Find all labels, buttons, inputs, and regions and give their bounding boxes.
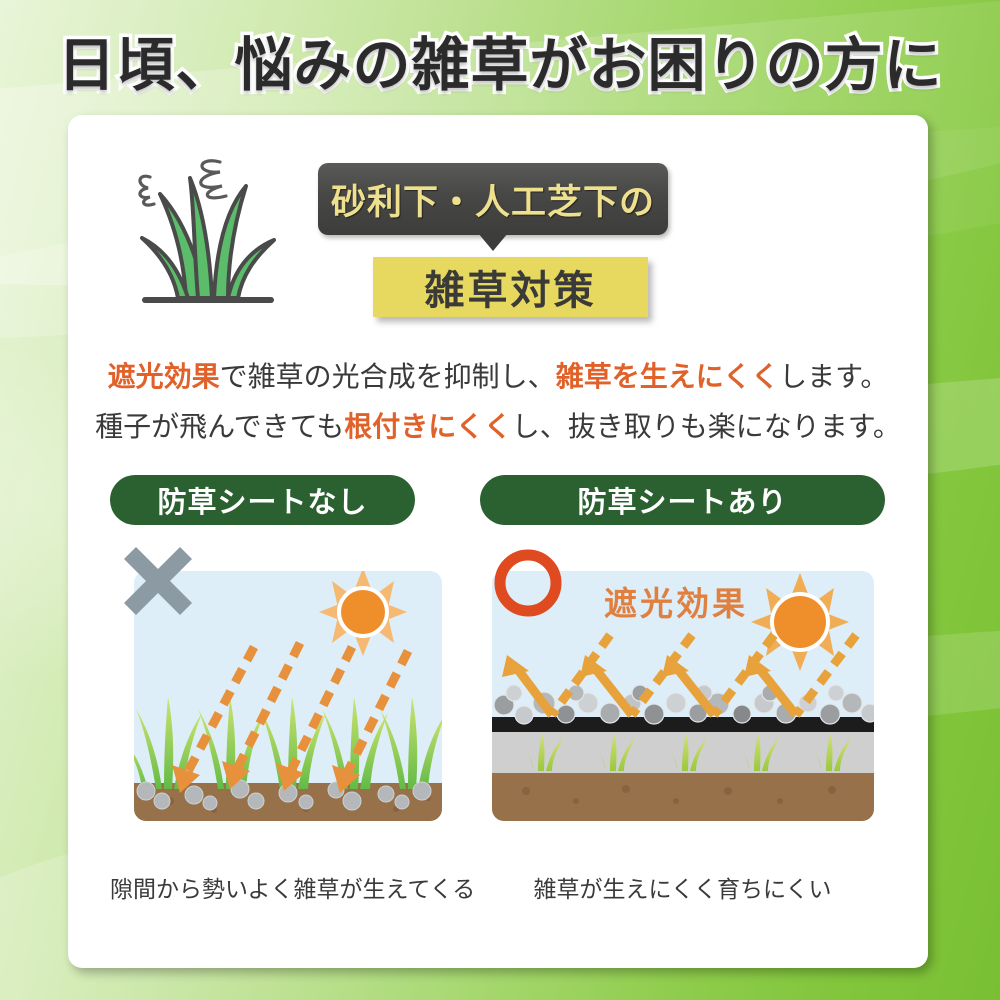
description-segment: 根付きにくく	[344, 411, 511, 442]
description-segment: 種子が飛んできても	[95, 411, 344, 442]
grass-icon	[128, 150, 288, 315]
label-without-sheet-text: 防草シートなし	[157, 479, 367, 521]
callout-bubble-text: 砂利下・人工芝下の	[331, 174, 655, 225]
label-with-sheet: 防草シートあり	[480, 475, 885, 525]
description-segment: 雑草を生えにくく	[556, 361, 779, 392]
poster-canvas: 日頃、悩みの雑草がお困りの方に 砂利下・人工芝下の 雑草対策	[0, 0, 1000, 1000]
caption-with-sheet: 雑草が生えにくく育ちにくい	[480, 870, 885, 904]
label-with-sheet-text: 防草シートあり	[577, 479, 787, 521]
callout-bubble-tail	[478, 233, 508, 251]
caption-without-sheet: 隙間から勢いよく雑草が生えてくる	[110, 870, 462, 904]
description-segment: します。	[779, 361, 888, 392]
illustration-without-sheet	[110, 543, 462, 848]
highlight-box-text: 雑草対策	[425, 258, 597, 316]
page-title: 日頃、悩みの雑草がお困りの方に	[0, 18, 1000, 102]
label-without-sheet: 防草シートなし	[110, 475, 415, 525]
content-card: 砂利下・人工芝下の 雑草対策 遮光効果で雑草の光合成を抑制し、雑草を生えにくくし…	[68, 115, 928, 968]
sun-icon	[319, 568, 407, 656]
illustration-with-sheet: 遮光効果	[480, 543, 885, 848]
description-segment: 遮光効果	[108, 361, 220, 392]
description-line-2: 種子が飛んできても根付きにくくし、抜き取りも楽になります。	[68, 405, 928, 445]
shading-effect-label: 遮光効果	[604, 585, 748, 622]
highlight-box: 雑草対策	[373, 257, 648, 317]
description-segment: で雑草の光合成を抑制し、	[220, 361, 556, 392]
weed-barrier-sheet	[492, 717, 874, 732]
description-segment: し、抜き取りも楽になります。	[512, 411, 901, 442]
callout-bubble: 砂利下・人工芝下の	[318, 163, 668, 235]
description-line-1: 遮光効果で雑草の光合成を抑制し、雑草を生えにくくします。	[68, 355, 928, 395]
